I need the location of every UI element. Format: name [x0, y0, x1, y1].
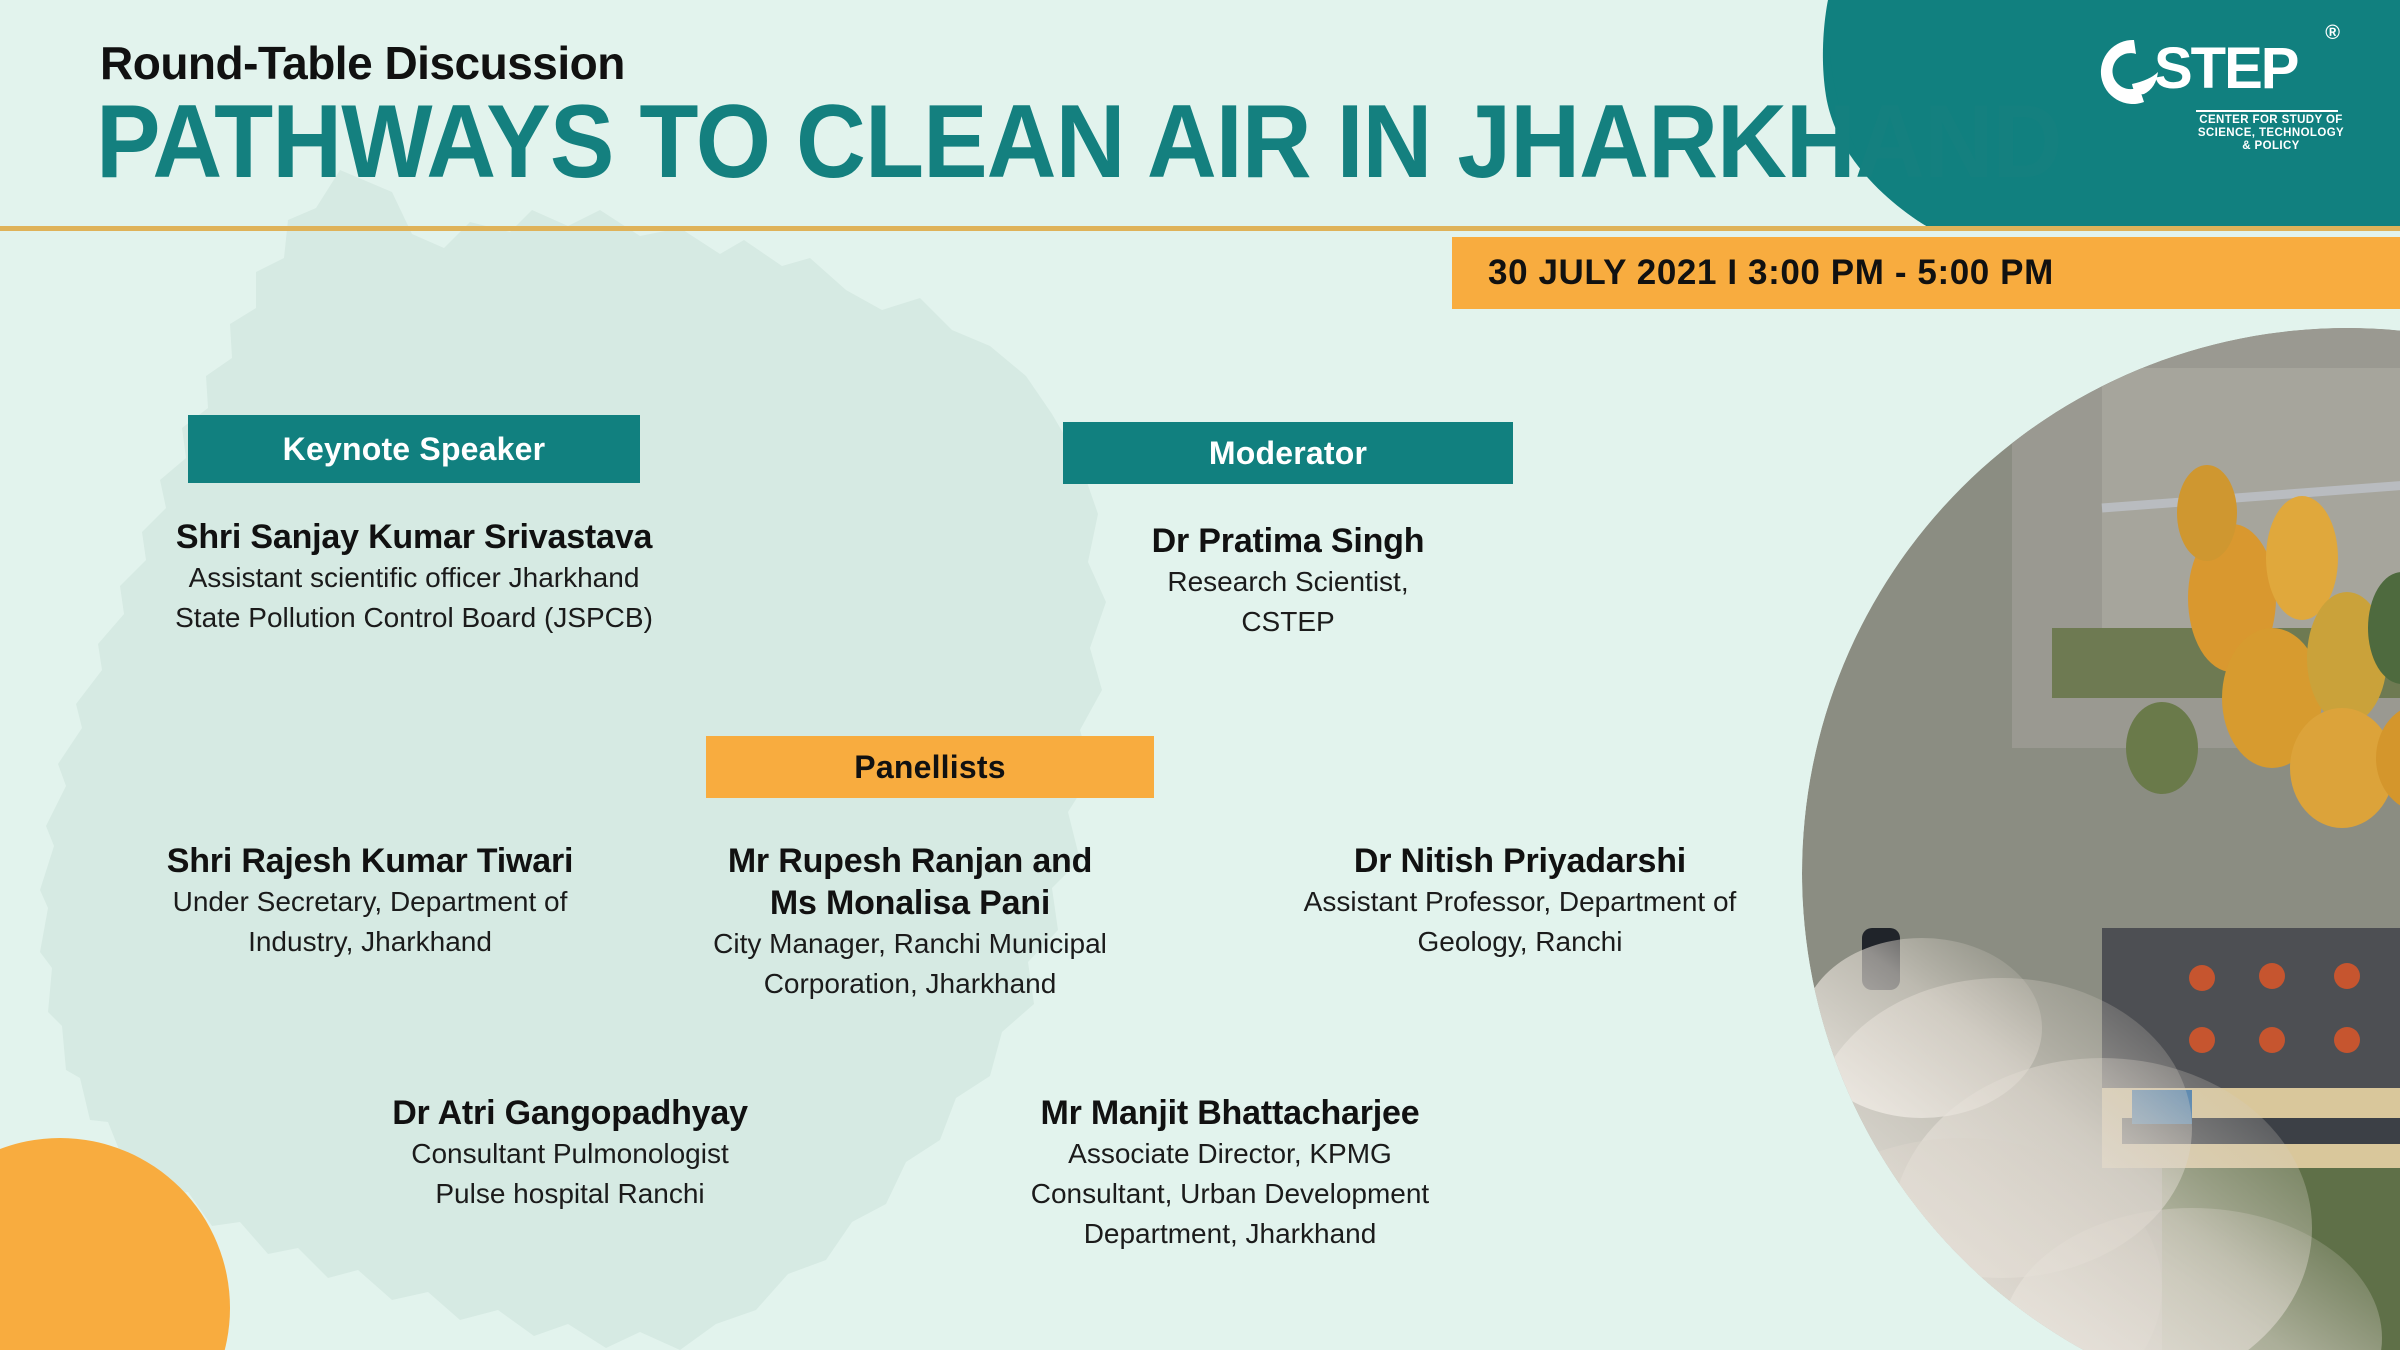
panellist-role-line1: Assistant Professor, Department of — [1240, 882, 1800, 922]
panellist-role-line3: Department, Jharkhand — [960, 1214, 1500, 1254]
badge-keynote-speaker: Keynote Speaker — [188, 415, 640, 483]
moderator-block: Dr Pratima Singh Research Scientist, CST… — [1038, 520, 1538, 642]
panellist-role-line2: Consultant, Urban Development — [960, 1174, 1500, 1214]
badge-panellists: Panellists — [706, 736, 1154, 798]
date-time-banner: 30 JULY 2021 I 3:00 PM - 5:00 PM — [1452, 237, 2400, 309]
aerial-industrial-photo — [1802, 328, 2400, 1350]
panellist-role-line1: City Manager, Ranchi Municipal — [680, 924, 1140, 964]
badge-moderator: Moderator — [1063, 422, 1513, 484]
panellist-name: Dr Nitish Priyadarshi — [1240, 840, 1800, 882]
keynote-speaker-role-line1: Assistant scientific officer Jharkhand — [64, 558, 764, 598]
keynote-speaker-block: Shri Sanjay Kumar Srivastava Assistant s… — [64, 516, 764, 638]
keynote-speaker-name: Shri Sanjay Kumar Srivastava — [64, 516, 764, 558]
panellist-name: Dr Atri Gangopadhyay — [290, 1092, 850, 1134]
panellist-block: Dr Nitish Priyadarshi Assistant Professo… — [1240, 840, 1800, 962]
panellist-name-line2: Ms Monalisa Pani — [680, 882, 1140, 924]
keynote-speaker-role-line2: State Pollution Control Board (JSPCB) — [64, 598, 764, 638]
panellist-block: Shri Rajesh Kumar Tiwari Under Secretary… — [40, 840, 700, 962]
cstep-wordmark-icon: STEP — [2088, 28, 2338, 108]
event-poster: STEP CENTER FOR STUDY OF SCIENCE, TECHNO… — [0, 0, 2400, 1350]
logo-tagline-line2: SCIENCE, TECHNOLOGY & POLICY — [2196, 127, 2346, 153]
panellist-role-line2: Corporation, Jharkhand — [680, 964, 1140, 1004]
panellist-block: Dr Atri Gangopadhyay Consultant Pulmonol… — [290, 1092, 850, 1214]
panellist-role-line1: Associate Director, KPMG — [960, 1134, 1500, 1174]
panellist-role-line2: Pulse hospital Ranchi — [290, 1174, 850, 1214]
moderator-role-line1: Research Scientist, — [1038, 562, 1538, 602]
registered-trademark-icon: ® — [2325, 22, 2340, 45]
moderator-name: Dr Pratima Singh — [1038, 520, 1538, 562]
panellist-name: Mr Rupesh Ranjan and — [680, 840, 1140, 882]
header-gold-rule — [0, 226, 2400, 231]
moderator-role-line2: CSTEP — [1038, 602, 1538, 642]
panellist-block: Mr Manjit Bhattacharjee Associate Direct… — [960, 1092, 1500, 1254]
date-time-text: 30 JULY 2021 I 3:00 PM - 5:00 PM — [1488, 253, 2054, 293]
panellist-block: Mr Rupesh Ranjan and Ms Monalisa Pani Ci… — [680, 840, 1140, 1004]
corner-amber-circle — [0, 1138, 230, 1350]
svg-text:STEP: STEP — [2154, 36, 2298, 101]
panellist-role-line1: Under Secretary, Department of — [40, 882, 700, 922]
panellist-name: Mr Manjit Bhattacharjee — [960, 1092, 1500, 1134]
poster-title: PATHWAYS TO CLEAN AIR IN JHARKHAND — [96, 90, 2062, 194]
panellist-role-line1: Consultant Pulmonologist — [290, 1134, 850, 1174]
panellist-role-line2: Geology, Ranchi — [1240, 922, 1800, 962]
logo-tagline-line1: CENTER FOR STUDY OF — [2196, 114, 2346, 127]
panellist-name: Shri Rajesh Kumar Tiwari — [40, 840, 700, 882]
logo-tagline: CENTER FOR STUDY OF SCIENCE, TECHNOLOGY … — [2196, 114, 2346, 153]
panellist-role-line2: Industry, Jharkhand — [40, 922, 700, 962]
poster-kicker: Round-Table Discussion — [100, 36, 625, 90]
cstep-logo: STEP CENTER FOR STUDY OF SCIENCE, TECHNO… — [2088, 22, 2338, 142]
logo-divider — [2196, 110, 2338, 112]
